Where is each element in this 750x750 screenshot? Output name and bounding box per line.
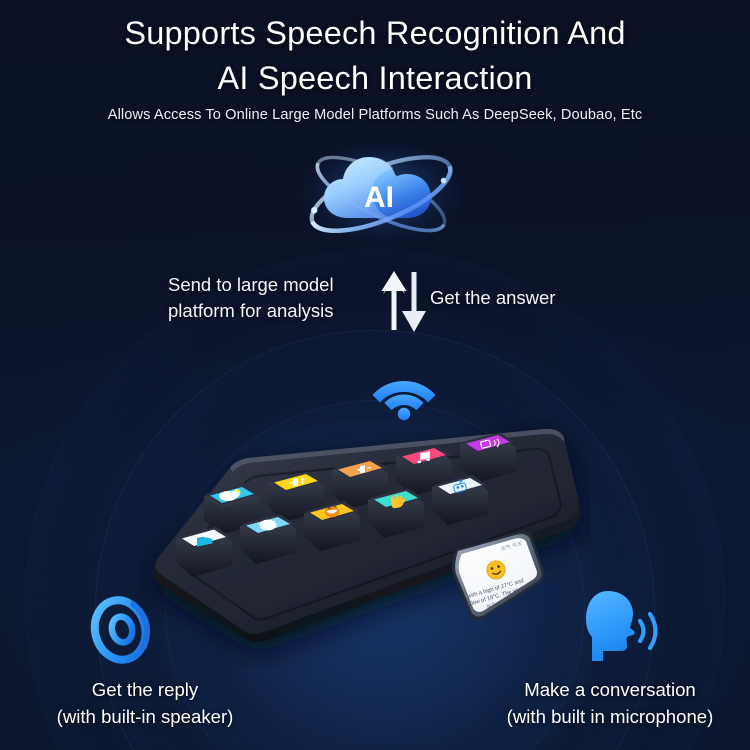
page-title-line-2: AI Speech Interaction	[0, 56, 750, 100]
ai-voice-keypad[interactable]: 天气 今天 with a high of 27°C and a low of 1…	[140, 418, 590, 668]
speaker-icon	[82, 594, 166, 664]
circle-orb-icon	[260, 520, 277, 531]
caption-left-line-2: (with built-in speaker)	[0, 703, 290, 730]
caption-left-line-1: Get the reply	[0, 676, 290, 703]
page-subtitle: Allows Access To Online Large Model Plat…	[0, 107, 750, 123]
page-background: Supports Speech Recognition And AI Speec…	[0, 0, 750, 750]
flow-answer-label: Get the answer	[430, 285, 660, 311]
arrow-down-icon	[402, 272, 426, 332]
header: Supports Speech Recognition And AI Speec…	[0, 0, 750, 123]
caption-right-line-1: Make a conversation	[470, 676, 750, 703]
flow-send-label: Send to large model platform for analysi…	[168, 272, 378, 324]
page-title-line-1: Supports Speech Recognition And	[0, 11, 750, 55]
caption-right-line-2: (with built in microphone)	[470, 703, 750, 730]
ai-cloud-orbit-icon: AI	[286, 132, 476, 256]
flow-arrows	[378, 268, 430, 334]
caption-left: Get the reply (with built-in speaker)	[0, 676, 290, 730]
ai-badge-label: AI	[364, 181, 394, 214]
data-flow-section: Send to large model platform for analysi…	[0, 272, 750, 334]
speaking-head-icon	[573, 583, 665, 665]
flow-send-line-2: platform for analysis	[168, 300, 334, 321]
wifi-icon	[368, 369, 440, 421]
caption-right: Make a conversation (with built in micro…	[470, 676, 750, 730]
arrow-up-icon	[382, 271, 407, 330]
flow-send-line-1: Send to large model	[168, 274, 334, 295]
